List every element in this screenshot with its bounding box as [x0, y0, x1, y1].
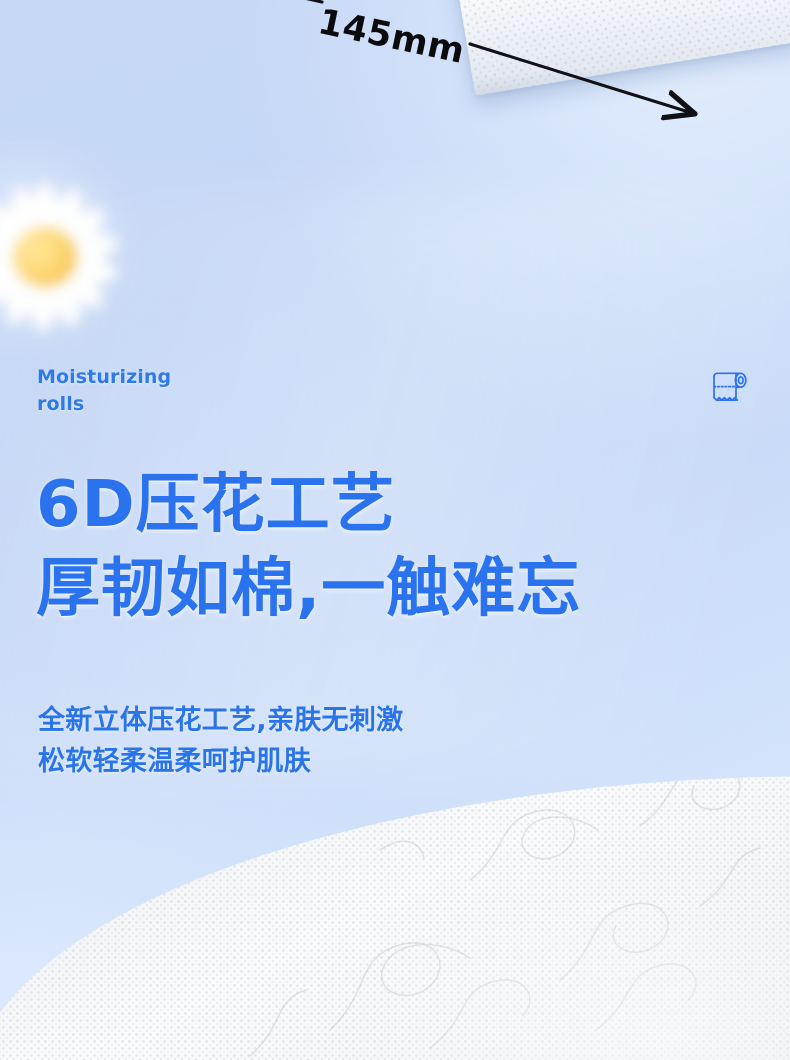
tissue-drape-shape	[0, 730, 790, 1060]
promo-banner: 145mm Moisturizing rolls	[0, 0, 790, 1060]
tissue-drape-edge	[0, 730, 790, 1060]
daisy-glow	[0, 142, 164, 374]
tissue-drape-bottom	[0, 730, 790, 1060]
eyebrow-line-1: Moisturizing	[37, 364, 171, 391]
headline: 6D压花工艺 厚韧如棉,一触难忘	[36, 470, 736, 625]
eyebrow-line-2: rolls	[37, 391, 171, 418]
toilet-paper-roll-icon	[706, 364, 752, 410]
daisy-flower-icon	[0, 168, 134, 346]
headline-line-1: 6D压花工艺	[36, 470, 736, 542]
eyebrow-text: Moisturizing rolls	[37, 364, 171, 418]
headline-line-2: 厚韧如棉,一触难忘	[36, 554, 736, 626]
